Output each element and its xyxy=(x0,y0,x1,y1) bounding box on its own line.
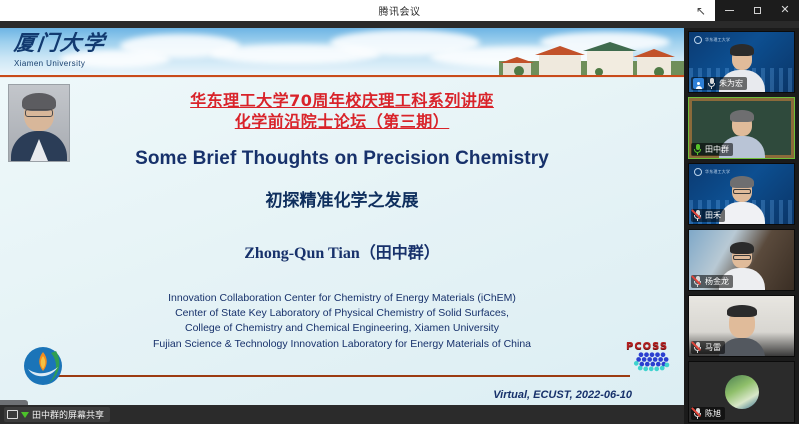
pcoss-lattice-icon xyxy=(624,350,680,383)
affiliation-block: Innovation Collaboration Center for Chem… xyxy=(0,291,684,352)
virtual-background-badge: 华东理工大学 xyxy=(694,168,730,176)
participant-name: 田中群 xyxy=(705,144,729,155)
status-bar-filler xyxy=(114,405,684,424)
participant-name: 杨金龙 xyxy=(705,276,729,287)
participant-name: 朱为宏 xyxy=(719,78,743,89)
participant-tile[interactable]: 杨金龙 xyxy=(688,229,795,291)
participant-tile[interactable]: 陈旭 xyxy=(688,361,795,423)
participant-nametag: 陈旭 xyxy=(691,407,725,420)
maximize-button[interactable] xyxy=(743,0,771,21)
participant-name: 陈旭 xyxy=(705,408,721,419)
window-chrome-strip xyxy=(0,21,799,28)
screen-share-icon xyxy=(7,410,18,419)
microphone-muted-icon xyxy=(693,276,702,287)
campus-photo-icon xyxy=(499,41,684,75)
talk-title-cn: 初探精准化学之发展 xyxy=(0,186,684,211)
participant-nametag: 田禾 xyxy=(691,209,725,222)
title-bar: 腾讯会议 xyxy=(0,0,799,21)
participant-tile[interactable]: 华东理工大学 朱为宏 xyxy=(688,31,795,93)
window-title: 腾讯会议 xyxy=(379,3,421,18)
ichem-logo-icon xyxy=(22,345,64,387)
lecture-series-title-line2: 化学前沿院士论坛（第三期） xyxy=(0,111,684,132)
status-bar: 田中群的屏幕共享 xyxy=(0,405,684,424)
window-controls: ↖ ✕ xyxy=(687,0,799,21)
microphone-on-icon xyxy=(693,144,702,155)
avatar xyxy=(725,375,759,409)
affiliation-line-3: College of Chemistry and Chemical Engine… xyxy=(0,321,684,336)
talk-title-en: Some Brief Thoughts on Precision Chemist… xyxy=(0,148,684,170)
microphone-muted-icon xyxy=(707,78,716,89)
participant-nametag: 田中群 xyxy=(691,143,733,156)
xmu-logo-en: Xiamen University xyxy=(14,59,106,68)
host-icon xyxy=(693,78,704,89)
affiliation-line-4: Fujian Science & Technology Innovation L… xyxy=(0,337,684,352)
tencent-meeting-window: 腾讯会议 ↖ ✕ 厦门大学 Xiamen University xyxy=(0,0,799,424)
virtual-background-badge: 华东理工大学 xyxy=(694,36,730,44)
participant-rail[interactable]: 华东理工大学 朱为宏 xyxy=(684,28,799,424)
microphone-muted-icon xyxy=(693,408,702,419)
affiliation-line-1: Innovation Collaboration Center for Chem… xyxy=(0,291,684,306)
pcoss-logo: PCOSS xyxy=(624,341,680,383)
xmu-logo-cn: 厦门大学 xyxy=(13,32,107,55)
participant-video xyxy=(719,308,765,357)
minimize-button[interactable] xyxy=(715,0,743,21)
participant-name: 田禾 xyxy=(705,210,721,221)
participant-nametag: 马雷 xyxy=(691,341,725,354)
slide-body: 华东理工大学70周年校庆理工科系列讲座 化学前沿院士论坛（第三期） Some B… xyxy=(0,78,684,405)
venue-date: Virtual, ECUST, 2022-06-10 xyxy=(493,389,632,401)
speaker-name: Zhong-Qun Tian（田中群） xyxy=(0,239,684,263)
cursor-pointer-icon: ↖ xyxy=(687,0,715,21)
slide-bottom-rule xyxy=(28,375,630,377)
participant-name: 马雷 xyxy=(705,342,721,353)
shared-screen-area[interactable]: 厦门大学 Xiamen University xyxy=(0,28,684,405)
screen-share-indicator[interactable]: 田中群的屏幕共享 xyxy=(4,407,110,422)
lecture-series-title-line1: 华东理工大学70周年校庆理工科系列讲座 xyxy=(0,78,684,111)
close-button[interactable]: ✕ xyxy=(771,0,799,21)
participant-tile[interactable]: 田中群 xyxy=(688,97,795,159)
participant-nametag: 杨金龙 xyxy=(691,275,733,288)
participant-video xyxy=(719,179,765,224)
xiamen-university-logo: 厦门大学 Xiamen University xyxy=(14,32,106,68)
download-arrow-icon xyxy=(21,412,29,418)
slide-banner: 厦门大学 Xiamen University xyxy=(0,28,684,75)
participant-tile[interactable]: 华东理工大学 田禾 xyxy=(688,163,795,225)
microphone-muted-icon xyxy=(693,210,702,221)
share-owner-label: 田中群的屏幕共享 xyxy=(32,408,104,421)
microphone-muted-icon xyxy=(693,342,702,353)
affiliation-line-2: Center of State Key Laboratory of Physic… xyxy=(0,306,684,321)
participant-tile[interactable]: 马雷 xyxy=(688,295,795,357)
speaker-portrait xyxy=(8,84,70,162)
participant-nametag: 朱为宏 xyxy=(691,77,747,90)
